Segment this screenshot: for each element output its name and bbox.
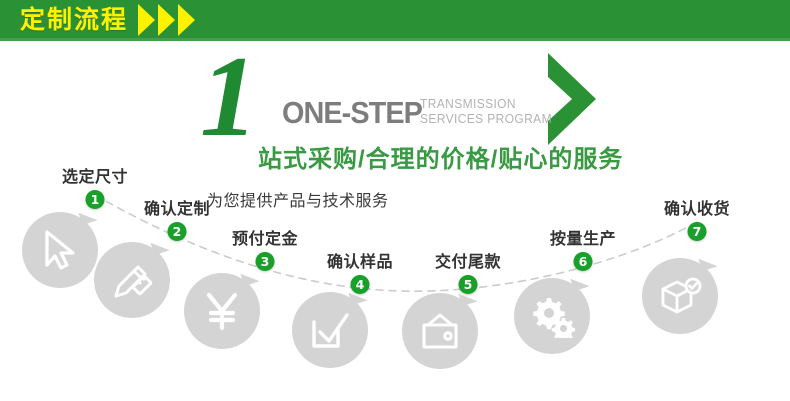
step-icon-bubble [514, 278, 590, 354]
step-icon-bubble [292, 292, 368, 368]
banner-title: 定制流程 [20, 4, 128, 37]
gears-icon [514, 278, 590, 354]
step-label: 按量生产 [550, 230, 616, 250]
hero-subhead-en-line2: SERVICES PROGRAM [420, 112, 552, 127]
step-icon-bubble [184, 273, 260, 349]
step-label: 确认定制 [144, 200, 210, 220]
hero-subhead-en: TRANSMISSION SERVICES PROGRAM [420, 97, 552, 127]
section-header-banner: 定制流程 [0, 0, 790, 41]
process-steps: 选定尺寸1 确认定制2 [0, 160, 790, 401]
step-number-badge: 6 [574, 252, 593, 271]
step-number-badge: 2 [168, 222, 187, 241]
step-number-badge: 4 [351, 275, 370, 294]
step-label: 预付定金 [232, 230, 298, 250]
step-number-badge: 7 [688, 222, 707, 241]
hero-numeral: 1 [200, 47, 252, 147]
step-number-badge: 5 [459, 275, 478, 294]
step-icon-bubble [402, 293, 478, 369]
step-label: 确认收货 [664, 200, 730, 220]
wallet-icon [402, 293, 478, 369]
step-label: 交付尾款 [435, 253, 501, 273]
step-icon-bubble [642, 258, 718, 334]
step-label: 确认样品 [327, 253, 393, 273]
check-box-icon [292, 292, 368, 368]
step-label: 选定尺寸 [62, 168, 128, 188]
box-check-icon [642, 258, 718, 334]
step-icon-bubble [94, 242, 170, 318]
step-number-badge: 1 [86, 190, 105, 209]
hero-subhead-en-line1: TRANSMISSION [420, 97, 552, 112]
yen-currency-icon [184, 273, 260, 349]
step-number-badge: 3 [256, 252, 275, 271]
pencil-ruler-icon [94, 242, 170, 318]
cursor-arrow-icon [22, 212, 98, 288]
step-icon-bubble [22, 212, 98, 288]
customization-flow-infographic: 定制流程 1 ONE-STEP TRANSMISSION SERVICES PR… [0, 0, 790, 401]
hero-headline-en: ONE-STEP [282, 97, 422, 128]
